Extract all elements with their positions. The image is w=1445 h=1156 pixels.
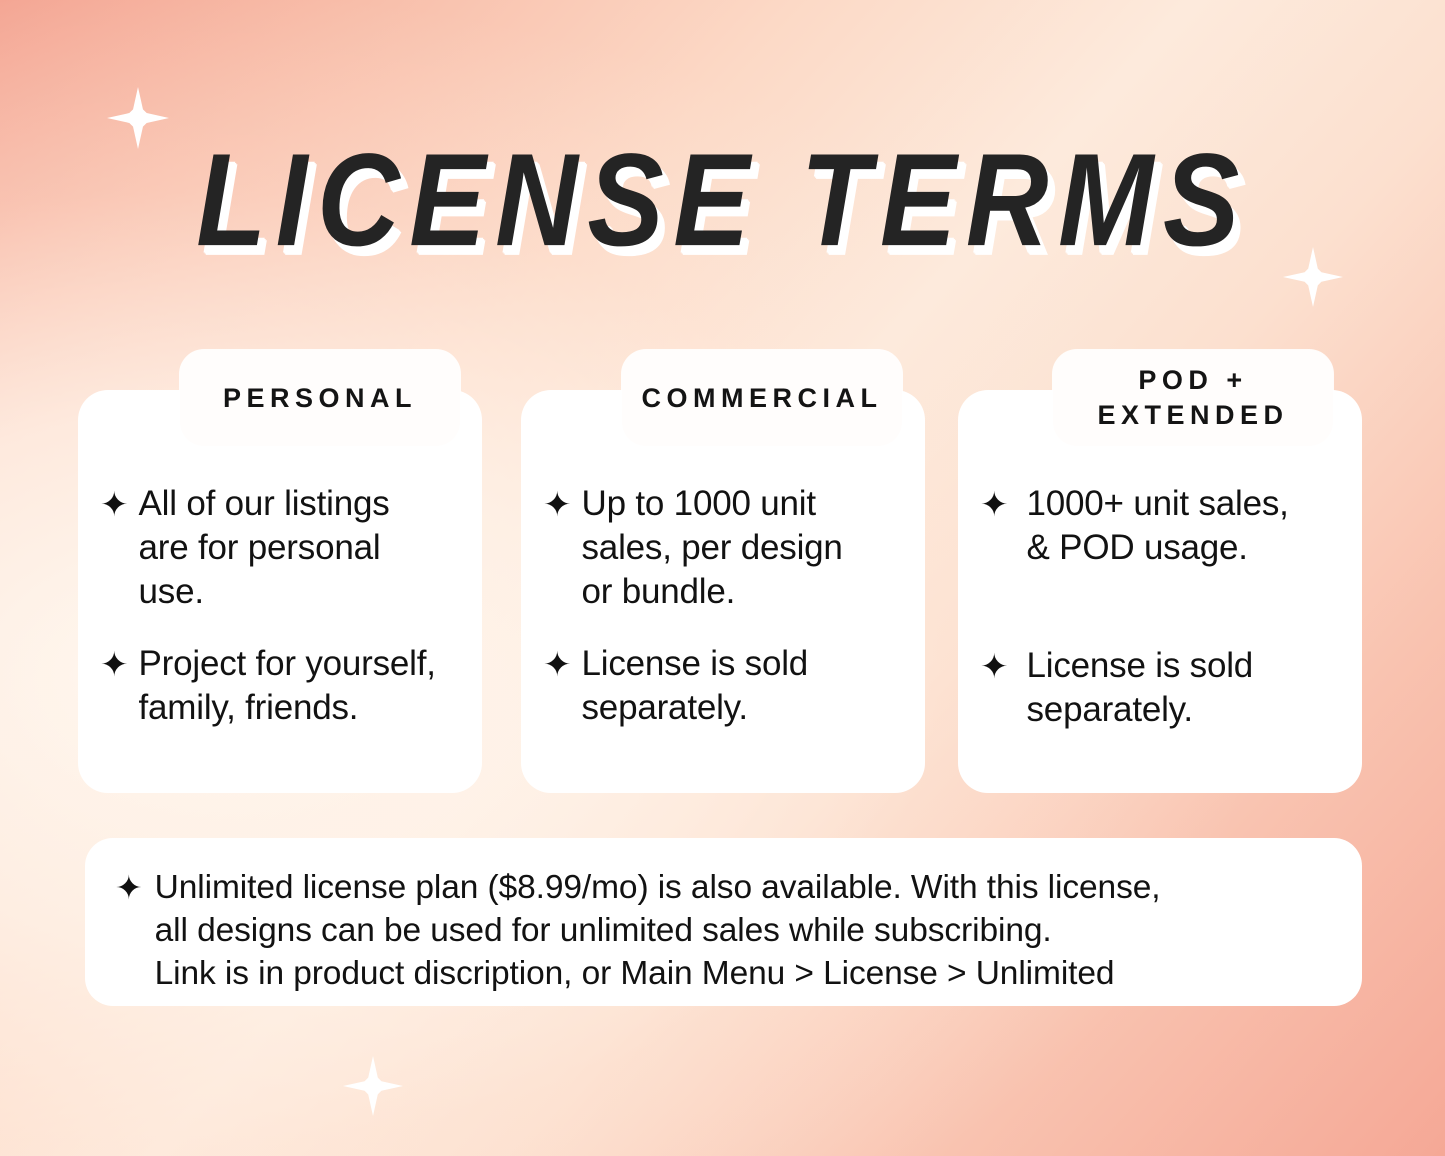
sparkle-bullet-icon: ✦ bbox=[100, 642, 129, 688]
sparkle-bullet-icon: ✦ bbox=[115, 866, 143, 910]
list-item: ✦ Up to 1000 unit sales, per design or b… bbox=[543, 482, 899, 614]
license-card-commercial: ✦ Up to 1000 unit sales, per design or b… bbox=[521, 390, 925, 793]
list-item-text: License is sold separately. bbox=[582, 642, 809, 730]
list-item-text: License is sold separately. bbox=[1027, 644, 1254, 732]
license-card-personal: ✦ All of our listings are for personal u… bbox=[78, 390, 482, 793]
sparkle-bullet-icon: ✦ bbox=[980, 644, 1009, 690]
list-item-text: Project for yourself, family, friends. bbox=[139, 642, 436, 730]
sparkle-bullet-icon: ✦ bbox=[543, 482, 572, 528]
card-header-pod-extended: POD + EXTENDED bbox=[1053, 350, 1333, 446]
card-header-commercial: COMMERCIAL bbox=[622, 350, 902, 446]
page-title-wrap: LICENSE TERMS bbox=[0, 146, 1445, 254]
sparkle-bullet-icon: ✦ bbox=[543, 642, 572, 688]
license-terms-graphic: LICENSE TERMS ✦ All of our listings are … bbox=[0, 0, 1445, 1156]
card-body-commercial: ✦ Up to 1000 unit sales, per design or b… bbox=[521, 482, 925, 758]
card-header-personal: PERSONAL bbox=[180, 350, 460, 446]
list-item-text: 1000+ unit sales, & POD usage. bbox=[1027, 482, 1289, 570]
list-item: ✦ 1000+ unit sales, & POD usage. bbox=[980, 482, 1336, 570]
list-item-text: All of our listings are for personal use… bbox=[139, 482, 390, 614]
card-body-pod-extended: ✦ 1000+ unit sales, & POD usage. ✦ Licen… bbox=[958, 482, 1362, 760]
page-title: LICENSE TERMS bbox=[196, 134, 1249, 266]
sparkle-bullet-icon: ✦ bbox=[100, 482, 129, 528]
list-item: ✦ All of our listings are for personal u… bbox=[100, 482, 456, 614]
list-item: ✦ License is sold separately. bbox=[543, 642, 899, 730]
sparkle-bottom-left-icon bbox=[343, 1056, 403, 1116]
sparkle-bullet-icon: ✦ bbox=[980, 482, 1009, 528]
list-item-text: Up to 1000 unit sales, per design or bun… bbox=[582, 482, 843, 614]
card-body-personal: ✦ All of our listings are for personal u… bbox=[78, 482, 482, 758]
license-card-pod-extended: ✦ 1000+ unit sales, & POD usage. ✦ Licen… bbox=[958, 390, 1362, 793]
banner-text: Unlimited license plan ($8.99/mo) is als… bbox=[155, 866, 1161, 995]
banner-inner: ✦ Unlimited license plan ($8.99/mo) is a… bbox=[85, 838, 1362, 995]
sparkle-right-icon bbox=[1283, 247, 1343, 307]
list-item: ✦ License is sold separately. bbox=[980, 644, 1336, 732]
list-item: ✦ Project for yourself, family, friends. bbox=[100, 642, 456, 730]
unlimited-plan-banner: ✦ Unlimited license plan ($8.99/mo) is a… bbox=[85, 838, 1362, 1006]
sparkle-top-left-icon bbox=[107, 87, 169, 149]
